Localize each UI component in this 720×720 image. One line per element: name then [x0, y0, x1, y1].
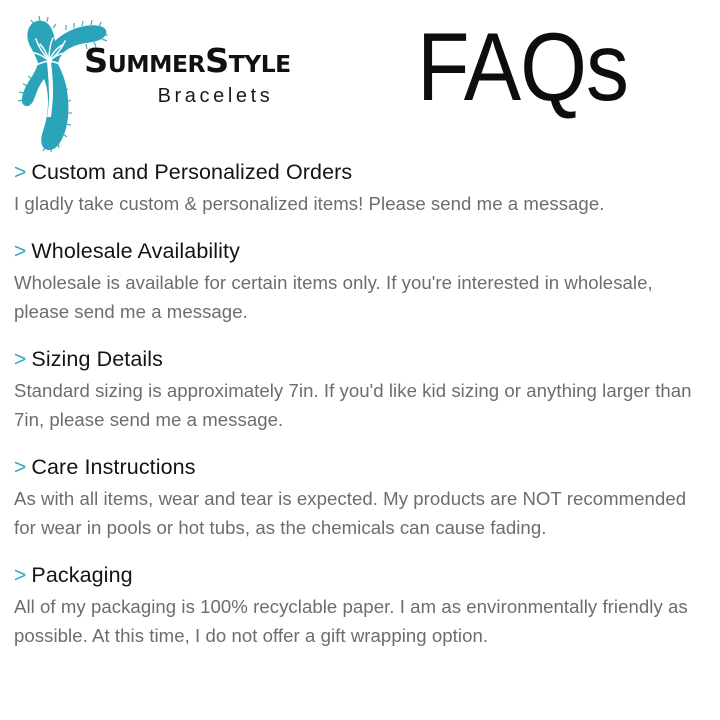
- faq-question-text: Custom and Personalized Orders: [31, 160, 352, 184]
- brand-name-summer: Summer: [84, 41, 205, 80]
- faq-question[interactable]: >Wholesale Availability: [14, 237, 704, 266]
- faq-question-text: Sizing Details: [31, 347, 163, 371]
- faq-item: >Sizing Details Standard sizing is appro…: [14, 345, 704, 434]
- faq-question[interactable]: >Custom and Personalized Orders: [14, 158, 704, 187]
- brand-subtitle: Bracelets: [84, 85, 309, 108]
- brand-lockup: SummerStyle Bracelets: [8, 6, 308, 152]
- chevron-right-icon: >: [14, 346, 26, 374]
- faq-question[interactable]: >Sizing Details: [14, 345, 704, 374]
- faq-answer: I gladly take custom & personalized item…: [14, 189, 700, 218]
- faq-page: SummerStyle Bracelets FAQs >Custom and P…: [0, 0, 720, 720]
- faq-item: >Packaging All of my packaging is 100% r…: [14, 561, 704, 650]
- faq-question[interactable]: >Packaging: [14, 561, 704, 590]
- chevron-right-icon: >: [14, 562, 26, 590]
- faq-question-text: Packaging: [31, 563, 132, 587]
- faq-item: >Care Instructions As with all items, we…: [14, 453, 704, 542]
- brand-name-style: Style: [205, 41, 291, 80]
- page-title: FAQs: [417, 14, 628, 122]
- chevron-right-icon: >: [14, 159, 26, 187]
- faq-question[interactable]: >Care Instructions: [14, 453, 704, 482]
- faq-question-text: Wholesale Availability: [31, 239, 240, 263]
- faq-answer: All of my packaging is 100% recyclable p…: [14, 592, 700, 650]
- brand-wordmark: SummerStyle Bracelets: [84, 42, 309, 108]
- faq-item: >Custom and Personalized Orders I gladly…: [14, 158, 704, 218]
- faq-question-text: Care Instructions: [31, 455, 195, 479]
- faq-answer: As with all items, wear and tear is expe…: [14, 484, 700, 542]
- faq-list: >Custom and Personalized Orders I gladly…: [14, 158, 704, 650]
- chevron-right-icon: >: [14, 238, 26, 266]
- brand-name: SummerStyle: [84, 42, 314, 80]
- chevron-right-icon: >: [14, 454, 26, 482]
- faq-answer: Wholesale is available for certain items…: [14, 268, 700, 326]
- faq-answer: Standard sizing is approximately 7in. If…: [14, 376, 700, 434]
- faq-item: >Wholesale Availability Wholesale is ava…: [14, 237, 704, 326]
- page-header: SummerStyle Bracelets FAQs: [0, 0, 720, 152]
